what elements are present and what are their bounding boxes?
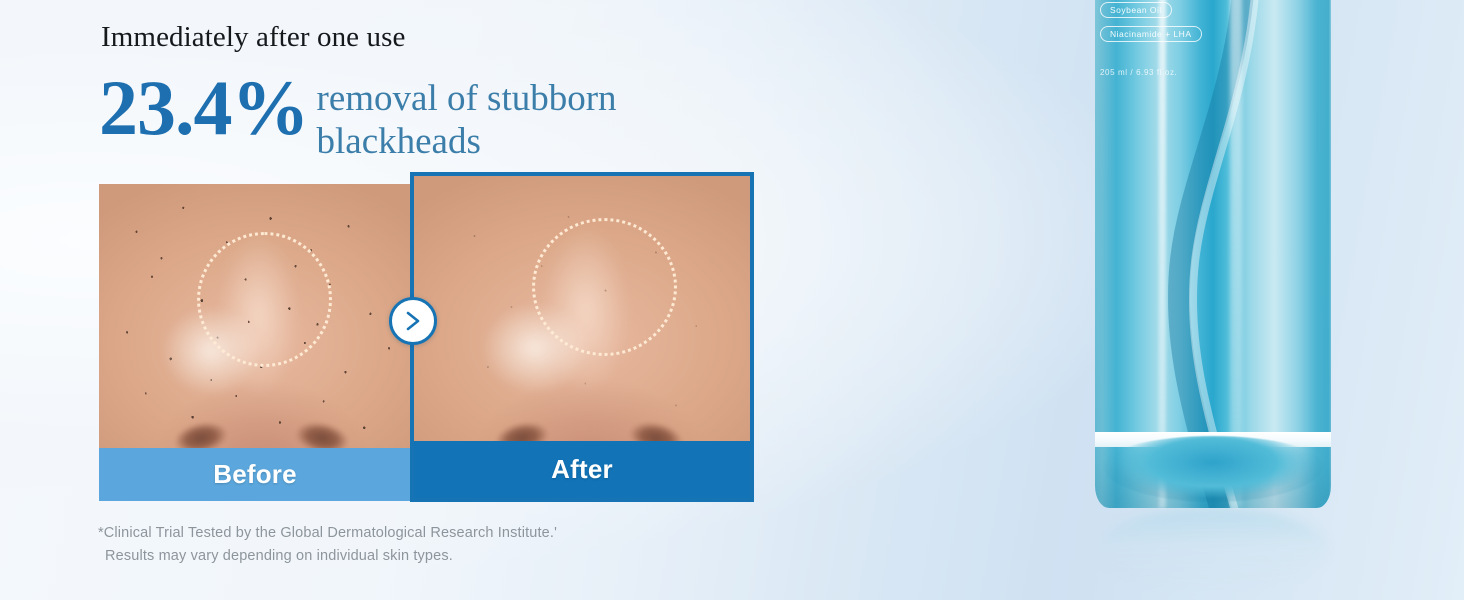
promo-banner: Immediately after one use 23.4% removal … — [0, 0, 1464, 600]
label-ingredient-pill-2: Niacinamide + LHA — [1100, 26, 1202, 42]
focus-circle-after — [532, 218, 677, 356]
after-panel: After — [410, 172, 754, 502]
bottle-reflection — [1098, 508, 1328, 590]
focus-circle-before — [197, 232, 332, 367]
chevron-right-icon — [389, 297, 437, 345]
footnote-line-2: Results may vary depending on individual… — [98, 545, 557, 568]
label-volume: 205 ml / 6.93 fl.oz. — [1100, 68, 1290, 77]
footnote: *Clinical Trial Tested by the Global Der… — [98, 522, 557, 568]
before-skin-photo — [99, 184, 411, 449]
label-ingredient-pill-1: Soybean Oil — [1100, 2, 1172, 18]
before-panel: Before — [99, 184, 411, 501]
before-label: Before — [99, 448, 411, 501]
percent-phrase: removal of stubborn blackheads — [317, 78, 677, 163]
product-bottle: FACIAL DEEP CLEANSING OIL Soybean Oil Ni… — [1050, 0, 1464, 600]
percent-value: 23.4% — [99, 70, 309, 146]
after-skin-photo — [414, 176, 750, 449]
before-after-comparison: Before After — [99, 172, 754, 502]
headline: 23.4% removal of stubborn blackheads — [99, 70, 677, 163]
footnote-line-1: *Clinical Trial Tested by the Global Der… — [98, 522, 557, 545]
bottle-label: FACIAL DEEP CLEANSING OIL Soybean Oil Ni… — [1100, 0, 1290, 77]
after-label: After — [414, 441, 750, 498]
eyebrow-text: Immediately after one use — [101, 22, 405, 54]
